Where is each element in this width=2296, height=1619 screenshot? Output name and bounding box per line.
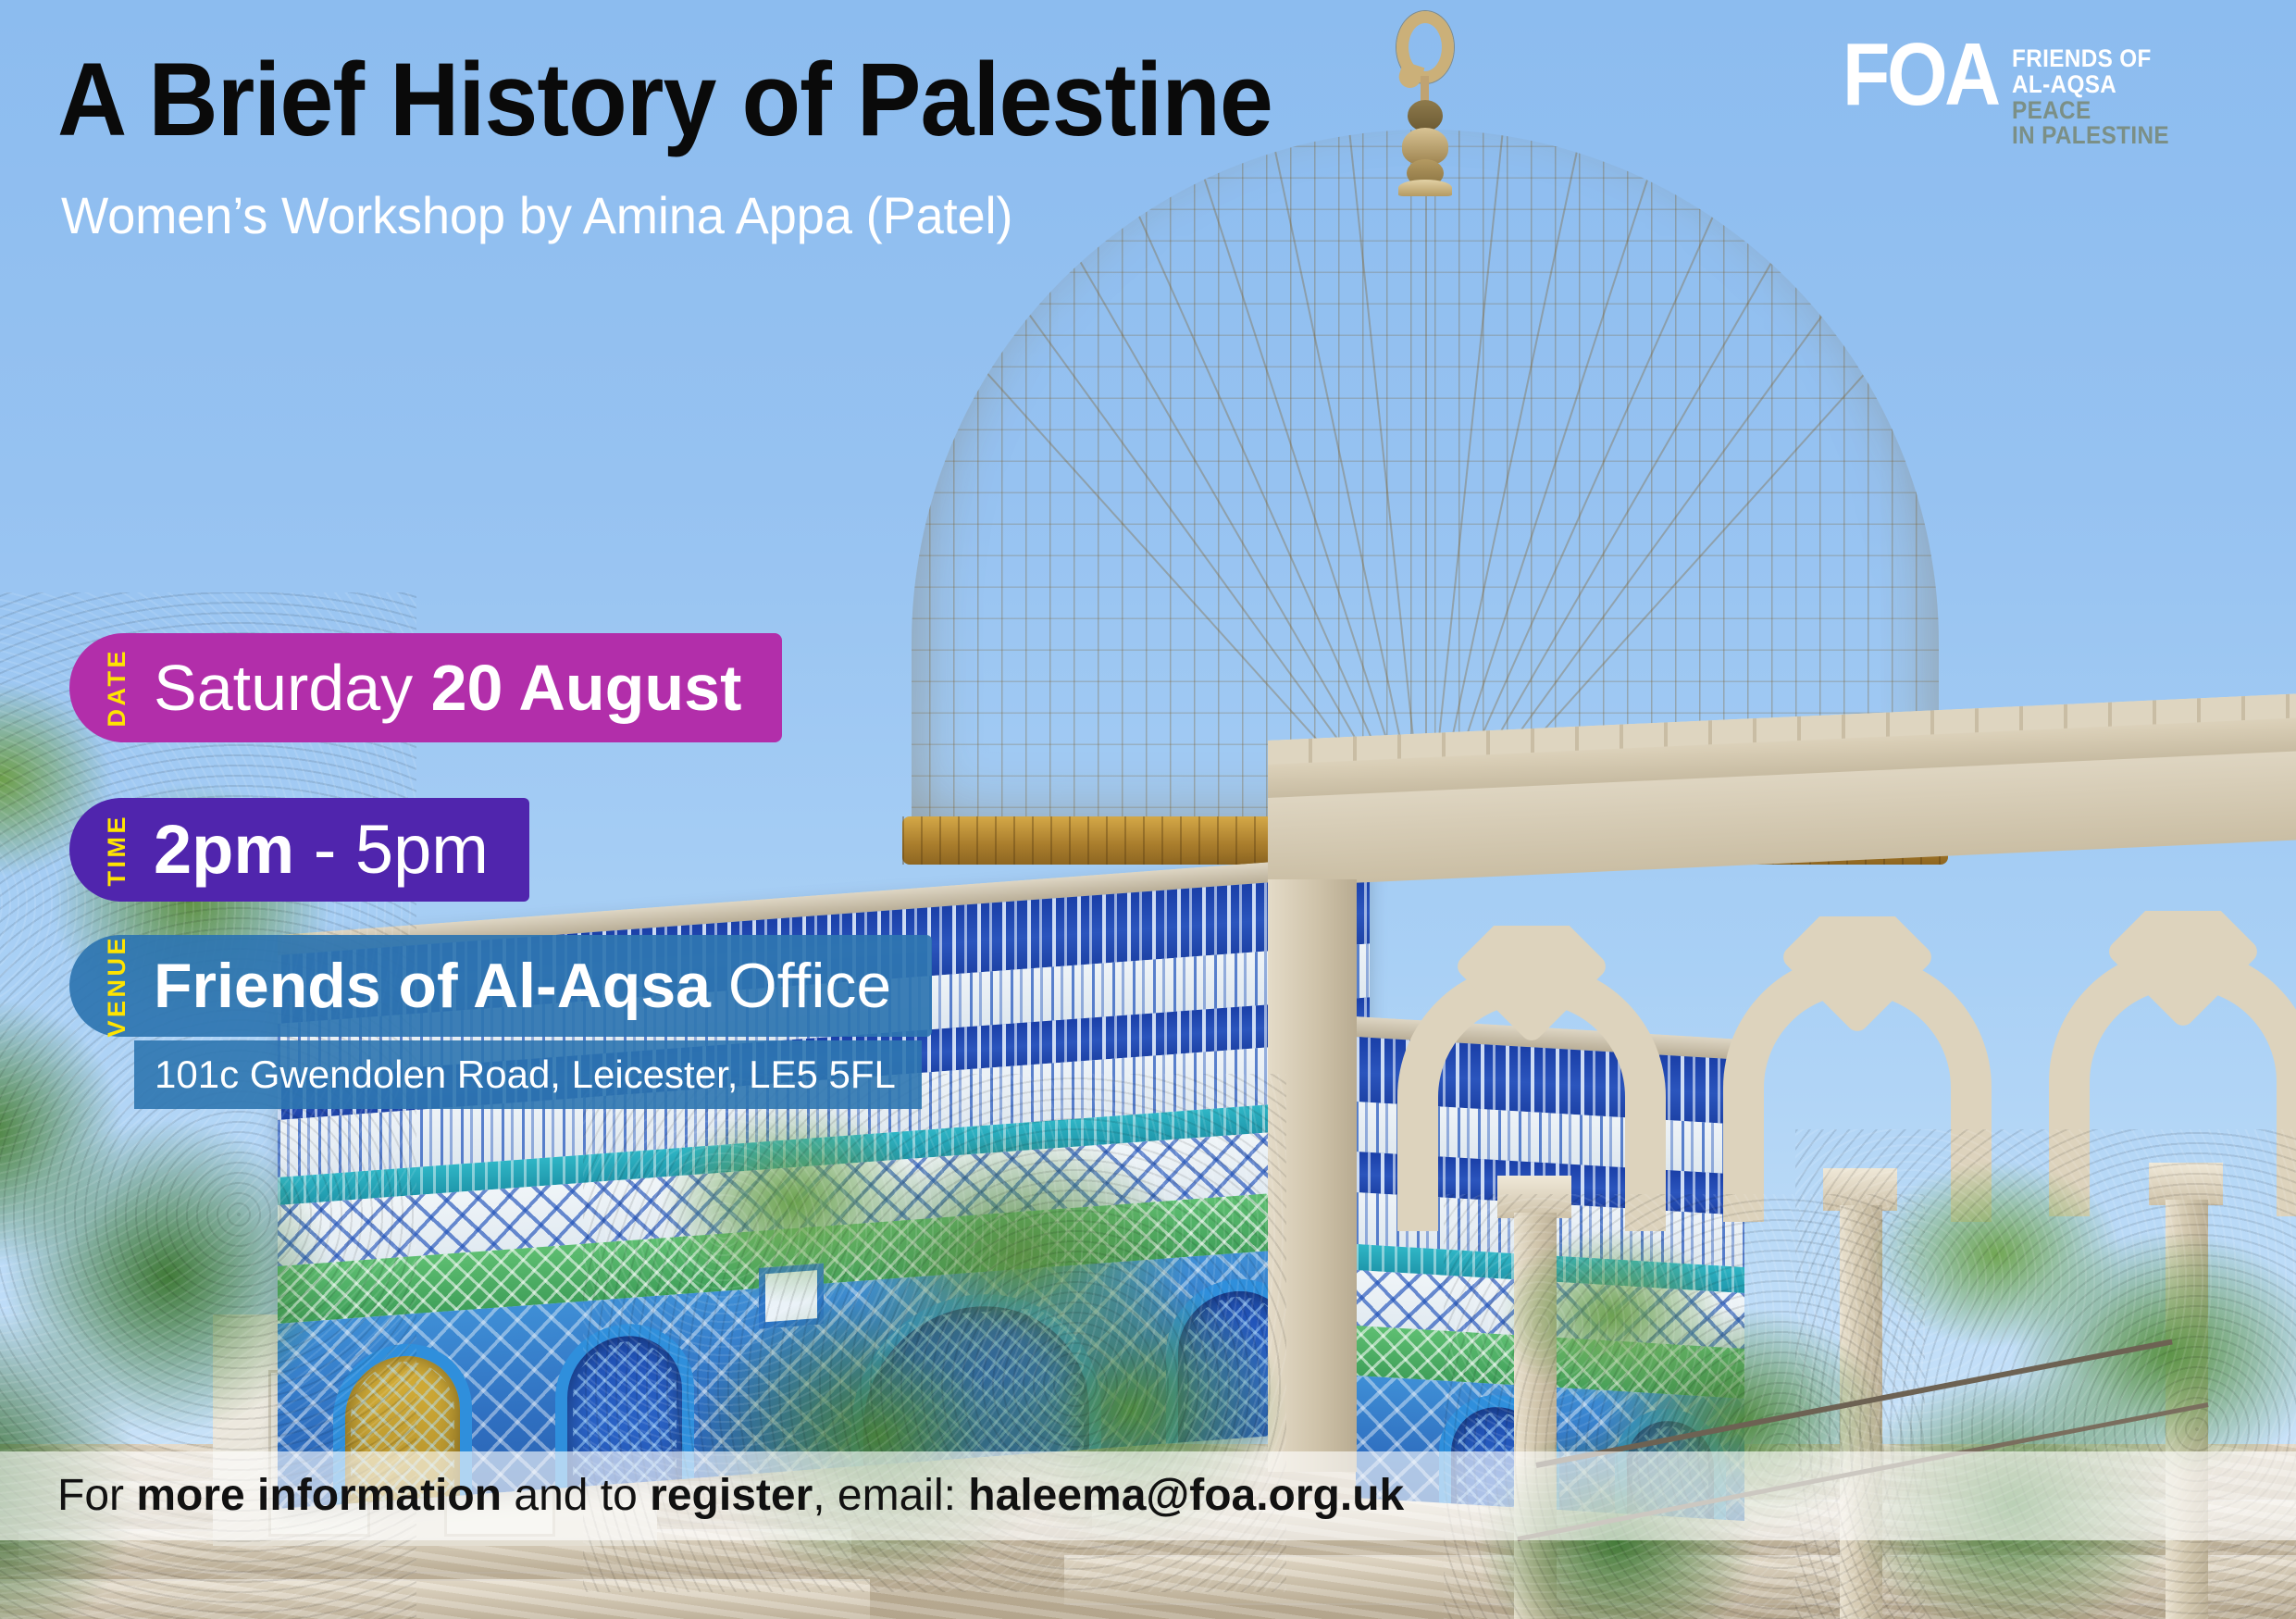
- date-badge-tag: DATE: [105, 648, 130, 728]
- event-poster: A Brief History of Palestine Women’s Wor…: [0, 0, 2296, 1619]
- time-text-regular: - 5pm: [294, 811, 489, 888]
- footer-part-2: more information: [136, 1471, 502, 1520]
- venue-badge-tag: VENUE: [105, 935, 130, 1038]
- time-badge: TIME 2pm - 5pm: [69, 798, 529, 902]
- footer-part-1: For: [57, 1471, 136, 1520]
- venue-text-regular: Office: [711, 951, 891, 1021]
- venue-text-bold: Friends of Al-Aqsa: [154, 951, 711, 1021]
- date-text-regular: Saturday: [154, 652, 431, 724]
- contact-email-link[interactable]: haleema@foa.org.uk: [968, 1471, 1404, 1520]
- footer-part-3: and to: [502, 1471, 650, 1520]
- foa-line-2: AL-AQSA: [2012, 72, 2169, 98]
- foa-line-3: PEACE: [2012, 98, 2169, 124]
- venue-address: 101c Gwendolen Road, Leicester, LE5 5FL: [134, 1040, 922, 1109]
- foa-strapline: FRIENDS OF AL-AQSA PEACE IN PALESTINE: [2012, 37, 2187, 149]
- footer-text: For more information and to register, em…: [57, 1474, 1404, 1518]
- foa-logo[interactable]: FOA FRIENDS OF AL-AQSA PEACE IN PALESTIN…: [1821, 37, 2187, 149]
- poster-content: A Brief History of Palestine Women’s Wor…: [0, 0, 2296, 1619]
- venue-badge-value: Friends of Al-Aqsa Office: [154, 954, 891, 1017]
- footer-part-4: register: [650, 1471, 813, 1520]
- footer-bar: For more information and to register, em…: [0, 1451, 2296, 1540]
- page-title: A Brief History of Palestine: [57, 48, 1272, 152]
- date-badge: DATE Saturday 20 August: [69, 633, 782, 742]
- time-badge-value: 2pm - 5pm: [154, 816, 489, 884]
- page-subtitle: Women’s Workshop by Amina Appa (Patel): [61, 185, 1012, 245]
- time-badge-tag: TIME: [105, 814, 130, 887]
- foa-line-4: IN PALESTINE: [2012, 123, 2169, 149]
- time-text-bold: 2pm: [154, 811, 294, 888]
- date-badge-value: Saturday 20 August: [154, 655, 741, 720]
- date-text-bold: 20 August: [431, 652, 742, 724]
- venue-badge: VENUE Friends of Al-Aqsa Office: [69, 935, 932, 1037]
- foa-line-1: FRIENDS OF: [2012, 46, 2169, 72]
- foa-wordmark: FOA: [1842, 37, 1997, 114]
- footer-part-5: , email:: [813, 1471, 968, 1520]
